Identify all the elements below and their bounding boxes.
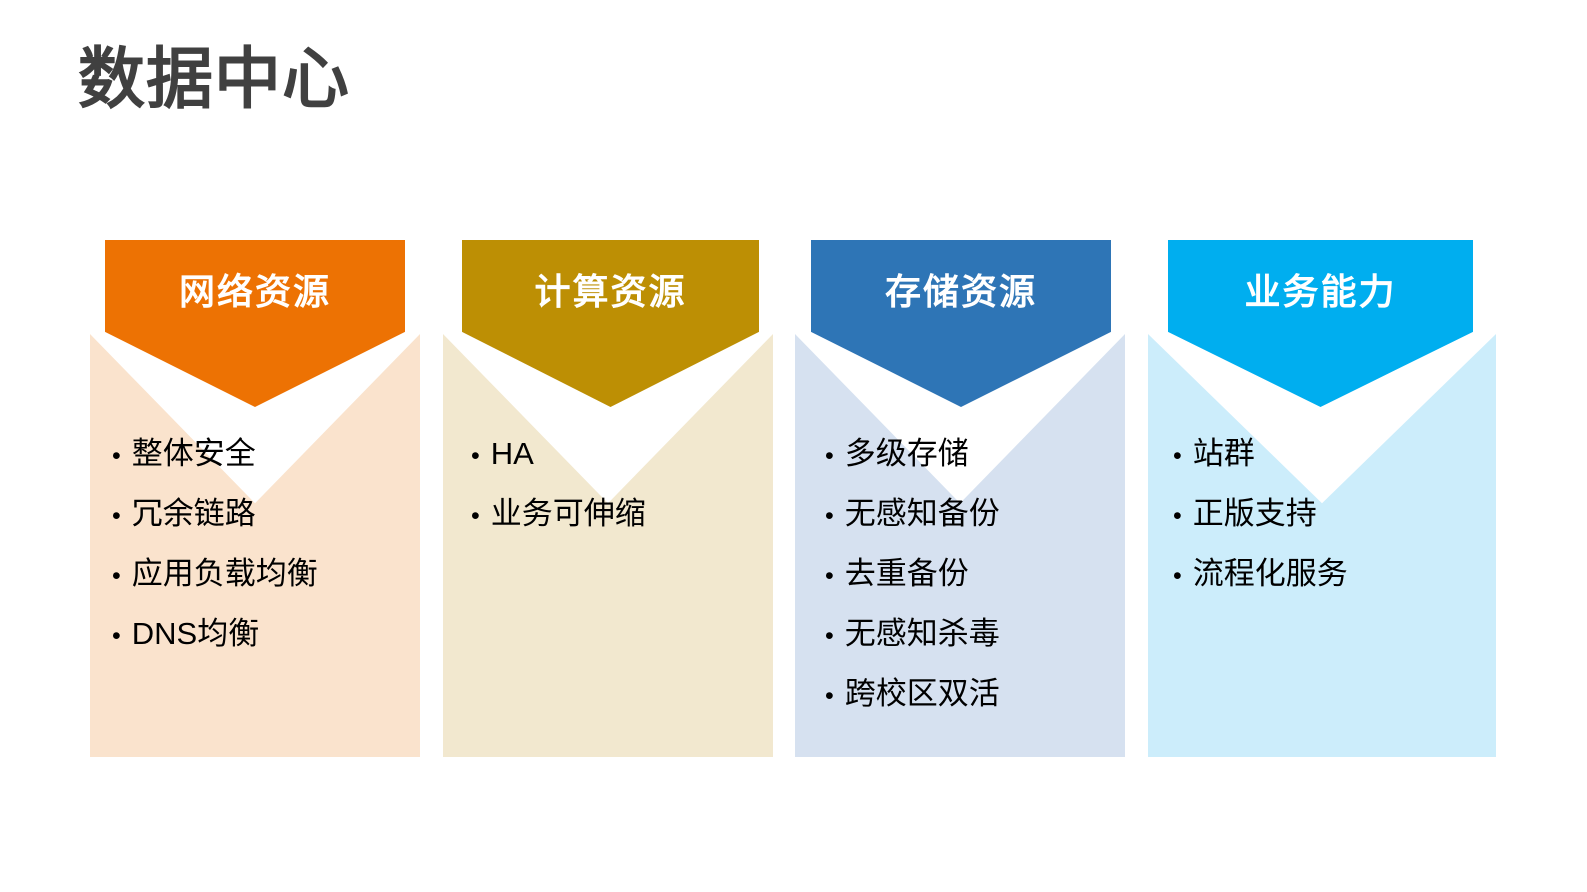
bullet-icon: • [1173, 504, 1182, 529]
list-item: • 整体安全 [112, 438, 442, 469]
column-bullet-list: • HA • 业务可伸缩 [443, 240, 801, 558]
list-item-label: 整体安全 [132, 438, 256, 469]
bullet-icon: • [471, 504, 480, 529]
list-item: • 业务可伸缩 [471, 498, 801, 529]
column-bullet-list: • 整体安全 • 冗余链路 • 应用负载均衡 • DNS均衡 [90, 240, 442, 678]
list-item-label: 多级存储 [845, 438, 969, 469]
list-item: • 跨校区双活 [825, 678, 1155, 709]
bullet-icon: • [1173, 564, 1182, 589]
bullet-icon: • [825, 564, 834, 589]
list-item-label: 站群 [1193, 438, 1255, 469]
column-bullet-list: • 站群 • 正版支持 • 流程化服务 [1148, 240, 1521, 618]
list-item-label: 去重备份 [845, 558, 969, 589]
list-item: • 应用负载均衡 [112, 558, 442, 589]
list-item-label: 无感知杀毒 [845, 618, 1000, 649]
bullet-icon: • [825, 684, 834, 709]
list-item: • 无感知备份 [825, 498, 1155, 529]
column-group: 网络资源 • 整体安全 • 冗余链路 • 应用负载均衡 • DNS均衡 [0, 240, 1587, 760]
list-item: • 正版支持 [1173, 498, 1521, 529]
list-item-label: 应用负载均衡 [132, 558, 318, 589]
list-item: • HA [471, 438, 801, 469]
list-item: • DNS均衡 [112, 618, 442, 649]
list-item: • 冗余链路 [112, 498, 442, 529]
list-item: • 站群 [1173, 438, 1521, 469]
bullet-icon: • [471, 444, 480, 469]
list-item-label: 流程化服务 [1193, 558, 1348, 589]
list-item: • 流程化服务 [1173, 558, 1521, 589]
list-item-label: 正版支持 [1193, 498, 1317, 529]
bullet-icon: • [825, 444, 834, 469]
list-item: • 无感知杀毒 [825, 618, 1155, 649]
bullet-icon: • [825, 504, 834, 529]
list-item-label: 跨校区双活 [845, 678, 1000, 709]
list-item-label: HA [491, 438, 534, 469]
column-bullet-list: • 多级存储 • 无感知备份 • 去重备份 • 无感知杀毒 • 跨校区双活 [795, 240, 1155, 738]
list-item-label: 无感知备份 [845, 498, 1000, 529]
bullet-icon: • [112, 564, 121, 589]
bullet-icon: • [1173, 444, 1182, 469]
list-item-label: 业务可伸缩 [491, 498, 646, 529]
bullet-icon: • [825, 624, 834, 649]
list-item-label: 冗余链路 [132, 498, 256, 529]
bullet-icon: • [112, 624, 121, 649]
list-item: • 多级存储 [825, 438, 1155, 469]
bullet-icon: • [112, 444, 121, 469]
list-item-label: DNS均衡 [132, 618, 259, 649]
page-title: 数据中心 [78, 42, 350, 117]
slide-canvas: 数据中心 网络资源 • 整体安全 • 冗余链路 • 应用负载均衡 [0, 0, 1587, 892]
list-item: • 去重备份 [825, 558, 1155, 589]
bullet-icon: • [112, 504, 121, 529]
